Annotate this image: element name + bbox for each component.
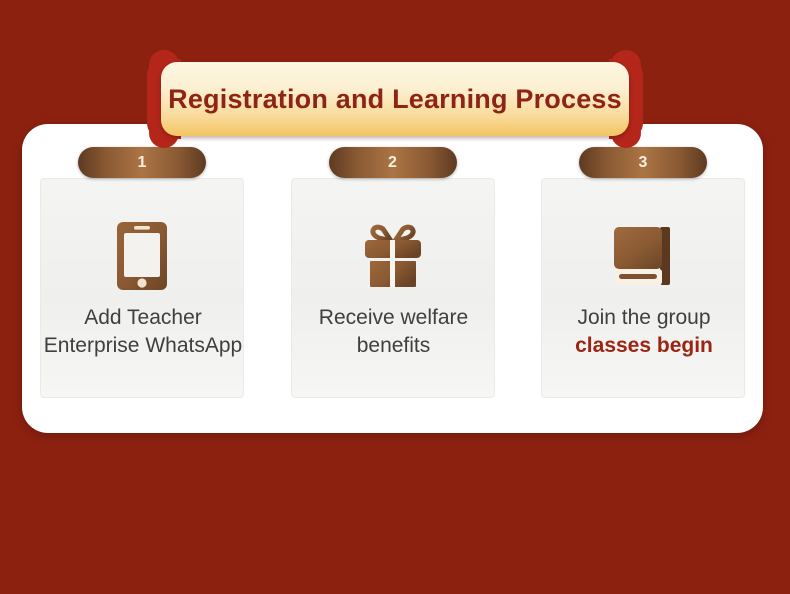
step-number-badge-1: 1 — [78, 147, 206, 178]
step-card-2[interactable]: 2 — [291, 178, 495, 398]
step-caption-2: Receive welfare benefits — [282, 304, 506, 359]
step-icon-slot-1 — [41, 217, 243, 295]
step-card-1[interactable]: 1 Add Tea — [40, 178, 244, 398]
step-number-2: 2 — [388, 155, 397, 171]
step-number-1: 1 — [138, 155, 147, 171]
gift-box-icon — [357, 223, 429, 289]
step-caption-1: Add Teacher Enterprise WhatsApp — [31, 304, 255, 359]
step-caption-line-3a: Join the group — [532, 304, 756, 332]
page-title: Registration and Learning Process — [168, 84, 622, 115]
banner-plate: Registration and Learning Process — [161, 62, 629, 136]
step-caption-line-2b: benefits — [282, 332, 506, 360]
step-number-badge-2: 2 — [329, 147, 457, 178]
step-number-badge-3: 3 — [579, 147, 707, 178]
steps-list: 1 Add Tea — [22, 124, 763, 433]
steps-panel: 1 Add Tea — [22, 124, 763, 433]
step-caption-line-1a: Add Teacher — [31, 304, 255, 332]
step-card-3[interactable]: 3 Join th — [541, 178, 745, 398]
step-caption-line-3b: classes begin — [532, 332, 756, 360]
smartphone-icon — [114, 220, 170, 292]
step-number-3: 3 — [639, 155, 648, 171]
step-caption-line-2a: Receive welfare — [282, 304, 506, 332]
step-caption-line-1b: Enterprise WhatsApp — [31, 332, 255, 360]
step-caption-3: Join the group classes begin — [532, 304, 756, 359]
book-icon — [608, 223, 678, 289]
step-icon-slot-3 — [542, 217, 744, 295]
step-icon-slot-2 — [292, 217, 494, 295]
title-banner: Registration and Learning Process — [147, 55, 643, 143]
